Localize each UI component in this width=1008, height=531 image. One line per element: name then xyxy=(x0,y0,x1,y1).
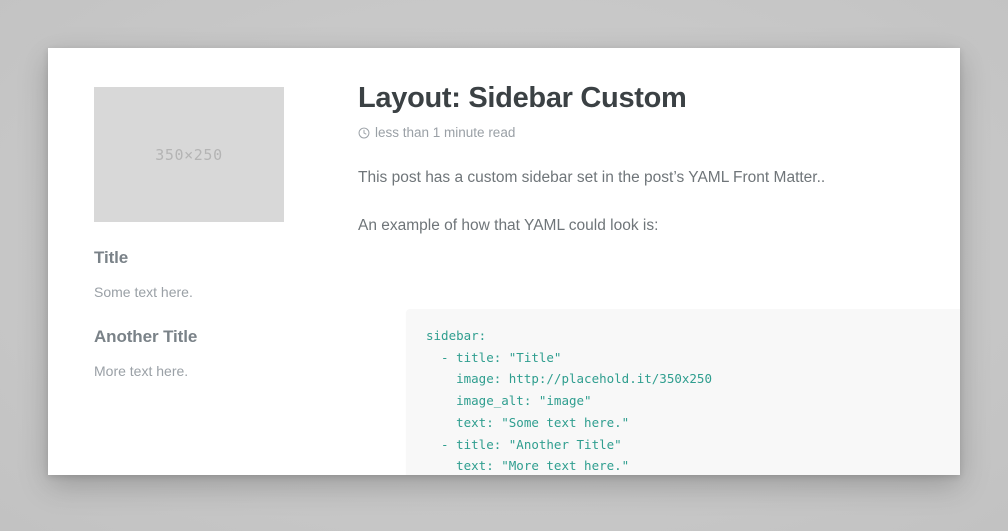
code-line: text: "Some text here." xyxy=(426,412,960,434)
content-card: 350×250 Title Some text here. Another Ti… xyxy=(48,48,960,475)
code-line: - title: "Another Title" xyxy=(426,434,960,456)
code-line: - title: "Title" xyxy=(426,347,960,369)
sidebar-block: Title Some text here. xyxy=(94,248,306,303)
code-line: sidebar: xyxy=(426,325,960,347)
clock-icon xyxy=(358,127,370,139)
sidebar-block-title: Title xyxy=(94,248,306,268)
sidebar-block-text: More text here. xyxy=(94,361,306,382)
code-line: image_alt: "image" xyxy=(426,390,960,412)
sidebar-image-placeholder: 350×250 xyxy=(94,87,284,222)
code-line: image: http://placehold.it/350x250 xyxy=(426,368,960,390)
page-title: Layout: Sidebar Custom xyxy=(358,82,960,115)
sidebar-block-title: Another Title xyxy=(94,327,306,347)
post-sidebar: 350×250 Title Some text here. Another Ti… xyxy=(94,87,306,404)
card-inner: 350×250 Title Some text here. Another Ti… xyxy=(48,48,960,475)
post-paragraph: An example of how that YAML could look i… xyxy=(358,214,960,238)
read-time-label: less than 1 minute read xyxy=(375,125,515,140)
post-meta: less than 1 minute read xyxy=(358,125,960,140)
code-line: text: "More text here." xyxy=(426,455,960,475)
code-snippet: sidebar: - title: "Title" image: http://… xyxy=(426,325,960,475)
sidebar-image-placeholder-label: 350×250 xyxy=(155,146,222,164)
code-block: sidebar: - title: "Title" image: http://… xyxy=(406,309,960,475)
sidebar-block-text: Some text here. xyxy=(94,282,306,303)
sidebar-block: Another Title More text here. xyxy=(94,327,306,382)
post-content: Layout: Sidebar Custom less than 1 minut… xyxy=(358,82,960,475)
post-paragraph: This post has a custom sidebar set in th… xyxy=(358,166,960,190)
